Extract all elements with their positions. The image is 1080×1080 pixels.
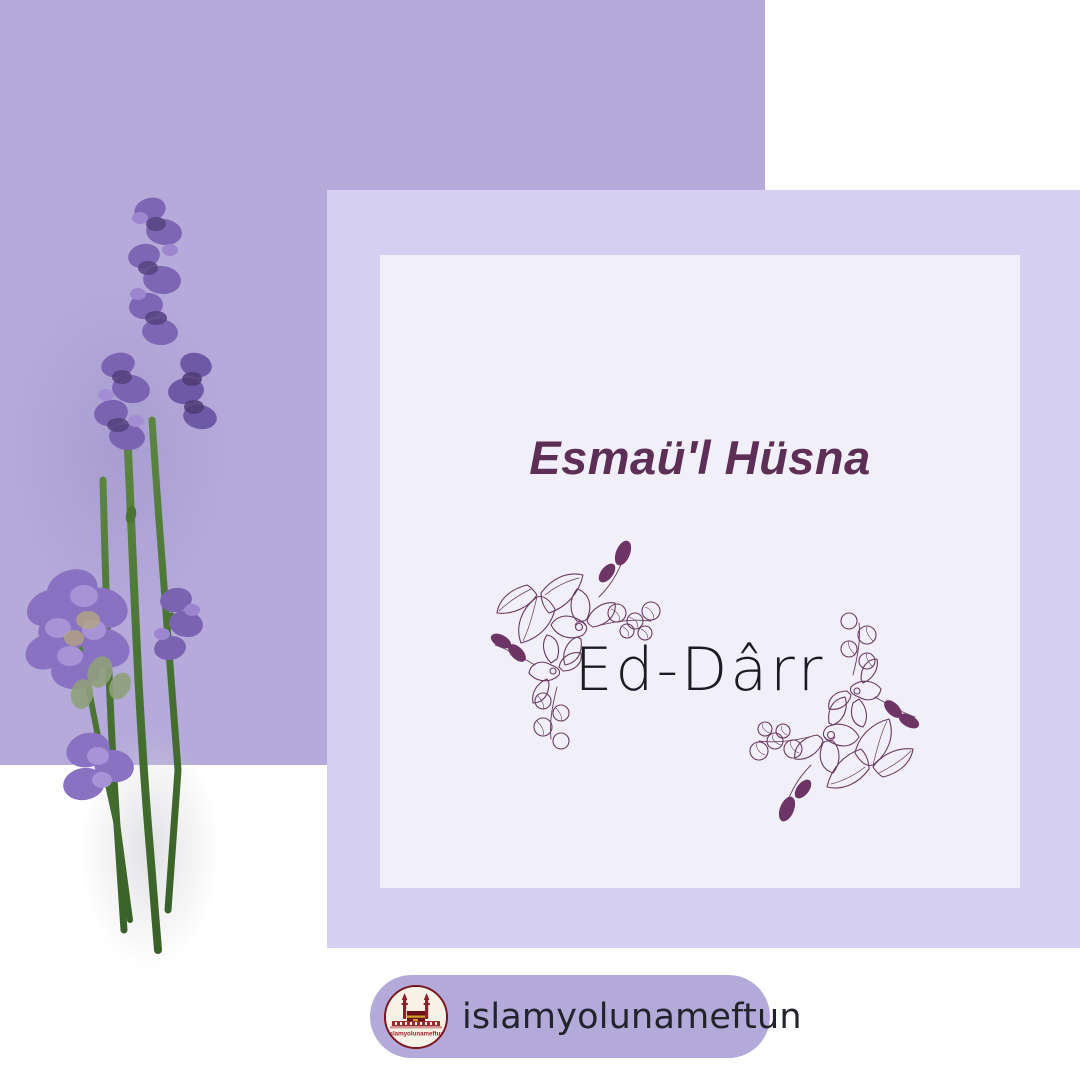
- avatar: islamyolunameftun: [384, 985, 448, 1049]
- divine-name: Ed-Dârr: [380, 635, 1020, 705]
- quote-card-frame: Esmaü'l Hüsna: [327, 190, 1080, 948]
- avatar-caption: islamyolunameftun: [388, 1030, 445, 1037]
- quote-card-inner: Esmaü'l Hüsna: [380, 255, 1020, 888]
- poster-canvas: Esmaü'l Hüsna: [0, 0, 1080, 1080]
- page-title: Esmaü'l Hüsna: [380, 255, 1020, 485]
- lavender-sprigs-photo: [0, 150, 330, 980]
- account-handle-label: islamyolunameftun: [462, 997, 802, 1037]
- account-handle-badge[interactable]: islamyolunameftun islamyolunameftun: [370, 975, 770, 1058]
